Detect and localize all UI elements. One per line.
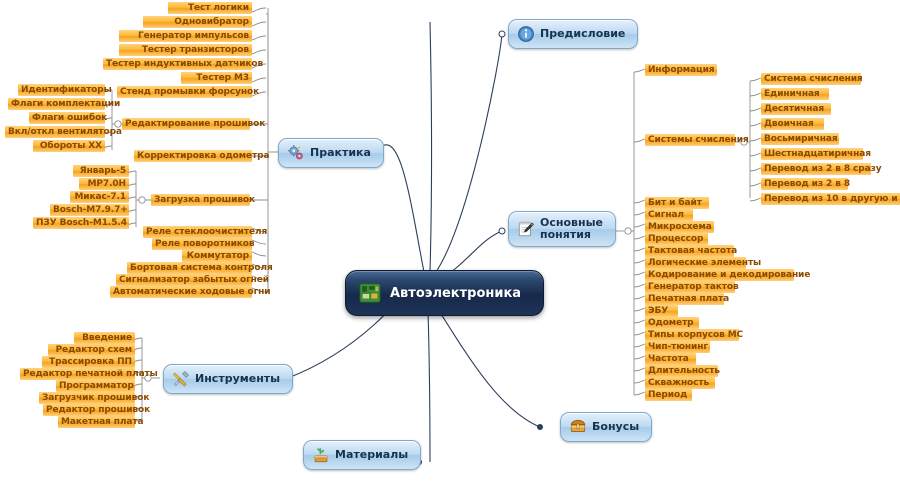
branch-label-praktika: Практика: [310, 147, 371, 159]
leaf-item[interactable]: Печатная плата: [645, 293, 724, 305]
leaf-item[interactable]: Информация: [645, 64, 717, 76]
leaf-item[interactable]: Системы счисления: [645, 134, 735, 146]
box-plant-icon: [312, 446, 330, 464]
leaf-item[interactable]: Бит и байт: [645, 197, 709, 209]
branch-node-materialy[interactable]: Материалы: [303, 440, 421, 470]
central-node-label: Автоэлектроника: [390, 286, 521, 301]
leaf-item[interactable]: Тестер М3: [181, 72, 252, 84]
leaf-item[interactable]: Флаги ошибок: [29, 112, 105, 124]
mindmap-canvas: Автоэлектроника Практика Инструменты: [0, 0, 900, 483]
leaf-item[interactable]: Идентификаторы: [18, 84, 105, 96]
leaf-item[interactable]: Микросхема: [645, 221, 714, 233]
leaf-item[interactable]: Сигнализатор забытых огней: [116, 274, 252, 286]
leaf-item[interactable]: Тестер транзисторов: [119, 44, 252, 56]
leaf-item[interactable]: Вкл/откл вентилятора: [5, 126, 105, 138]
leaf-item[interactable]: Восьмиричная: [761, 133, 839, 145]
leaf-item[interactable]: Стенд промывки форсунок: [117, 86, 252, 98]
leaf-item[interactable]: Январь-5: [73, 165, 129, 177]
leaf-item[interactable]: Десятичная: [761, 103, 831, 115]
leaf-item[interactable]: Редактор прошивок: [43, 404, 135, 416]
leaf-item[interactable]: Частота: [645, 353, 696, 365]
leaf-item[interactable]: Редактор печатной платы: [20, 368, 135, 380]
leaf-item[interactable]: Корректировка одометра: [134, 150, 252, 162]
leaf-item[interactable]: Тестер индуктивных датчиков: [103, 58, 252, 70]
leaf-item[interactable]: Сигнал: [645, 209, 693, 221]
leaf-item[interactable]: Редактирование прошивок: [122, 118, 250, 130]
leaf-item[interactable]: Макетная плата: [58, 416, 135, 428]
leaf-item[interactable]: ЭБУ: [645, 305, 678, 317]
branch-label-bonusy: Бонусы: [592, 421, 639, 433]
leaf-item[interactable]: Тест логики: [168, 2, 252, 14]
branch-label-predislovie: Предисловие: [540, 28, 625, 40]
leaf-item[interactable]: Перевод из 2 в 8 сразу: [761, 163, 871, 175]
leaf-item[interactable]: Флаги комплектации: [8, 98, 105, 110]
leaf-item[interactable]: Программатор: [56, 380, 135, 392]
branch-node-osnovnye[interactable]: Основные понятия: [508, 211, 616, 247]
leaf-item[interactable]: Одометр: [645, 317, 699, 329]
branch-node-instrumenty[interactable]: Инструменты: [163, 364, 293, 394]
info-icon: [517, 25, 535, 43]
leaf-item[interactable]: Скважность: [645, 377, 715, 389]
leaf-item[interactable]: Микас-7.1: [70, 191, 129, 203]
leaf-item[interactable]: Перевод из 10 в другую и обратно: [761, 193, 900, 205]
leaf-item[interactable]: Редактор схем: [48, 344, 135, 356]
leaf-item[interactable]: Загрузчик прошивок: [39, 392, 135, 404]
leaf-item[interactable]: Период: [645, 389, 692, 401]
leaf-item[interactable]: Двоичная: [761, 118, 824, 130]
leaf-item[interactable]: Введение: [74, 332, 135, 344]
branch-node-bonusy[interactable]: Бонусы: [560, 412, 652, 442]
leaf-item[interactable]: Типы корпусов МС: [645, 329, 739, 341]
branch-label-materialy: Материалы: [335, 449, 408, 461]
leaf-item[interactable]: Процессор: [645, 233, 708, 245]
gears-icon: [287, 144, 305, 162]
leaf-item[interactable]: Единичная: [761, 88, 829, 100]
leaf-item[interactable]: Чип-тюнинг: [645, 341, 710, 353]
notepad-pencil-icon: [517, 220, 535, 238]
leaf-item[interactable]: Одновибратор: [143, 16, 252, 28]
leaf-item[interactable]: Генератор тактов: [645, 281, 735, 293]
leaf-item[interactable]: Генератор импульсов: [119, 30, 252, 42]
leaf-item[interactable]: Система счисления: [761, 73, 861, 85]
branch-label-osnovnye: Основные понятия: [540, 217, 603, 241]
circuit-board-icon: [359, 282, 381, 304]
leaf-item[interactable]: Коммутатор: [182, 250, 252, 262]
branch-label-instrumenty: Инструменты: [195, 373, 280, 385]
leaf-item[interactable]: Трассировка ПП: [42, 356, 135, 368]
leaf-item[interactable]: Bosch-M7.9.7+: [50, 204, 129, 216]
leaf-item[interactable]: Логические элементы: [645, 257, 746, 269]
leaf-item[interactable]: Кодирование и декодирование: [645, 269, 794, 281]
leaf-item[interactable]: Бортовая система контроля: [127, 262, 252, 274]
leaf-item[interactable]: Обороты ХХ: [33, 140, 105, 152]
leaf-item[interactable]: Длительность: [645, 365, 718, 377]
leaf-item[interactable]: Автоматические ходовые огни: [110, 286, 252, 298]
leaf-item[interactable]: Тактовая частота: [645, 245, 734, 257]
central-node[interactable]: Автоэлектроника: [345, 270, 544, 316]
leaf-item[interactable]: ПЗУ Bosch-M1.5.4: [33, 217, 129, 229]
leaf-item[interactable]: Реле поворотников: [152, 238, 252, 250]
leaf-item[interactable]: Загрузка прошивок: [151, 194, 250, 206]
branch-node-predislovie[interactable]: Предисловие: [508, 19, 638, 49]
leaf-item[interactable]: Реле стеклоочистителя: [143, 226, 252, 238]
leaf-item[interactable]: МР7.0Н: [79, 178, 129, 190]
treasure-chest-icon: [569, 418, 587, 436]
branch-node-praktika[interactable]: Практика: [278, 138, 384, 168]
tools-icon: [172, 370, 190, 388]
leaf-item[interactable]: Шестнадцатиричная: [761, 148, 863, 160]
leaf-item[interactable]: Перевод из 2 в 8: [761, 178, 848, 190]
